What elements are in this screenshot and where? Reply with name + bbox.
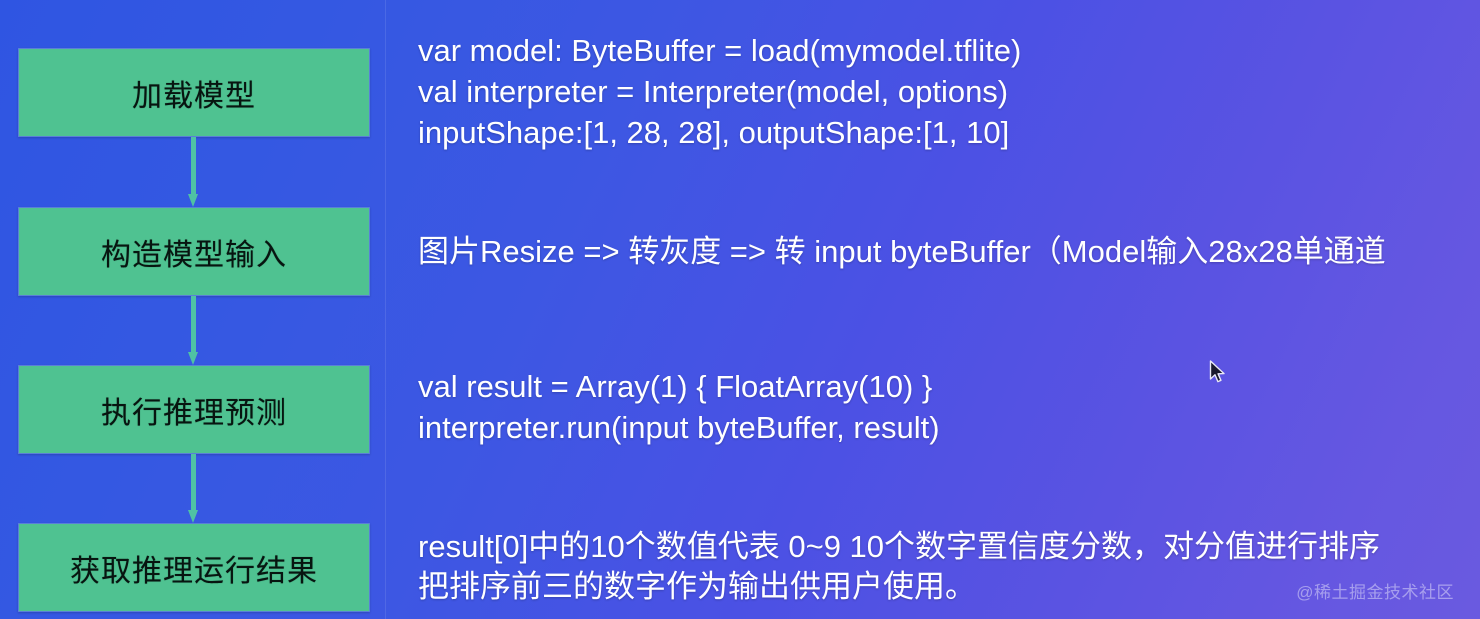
code-line: val interpreter = Interpreter(model, opt… [418,71,1021,112]
code-line: val result = Array(1) { FloatArray(10) } [418,366,940,407]
annotation-run-inference-code: val result = Array(1) { FloatArray(10) }… [418,366,940,448]
column-divider [385,0,386,619]
arrow-head [188,352,198,365]
flow-arrow-down-icon [188,137,199,208]
description-line: 图片Resize => 转灰度 => 转 input byteBuffer（Mo… [418,232,1386,272]
code-line: var model: ByteBuffer = load(mymodel.tfl… [418,30,1021,71]
mouse-cursor-icon [1209,360,1227,384]
flow-step-label: 获取推理运行结果 [70,546,318,590]
flow-step-label: 执行推理预测 [101,388,287,432]
flow-step-run-inference[interactable]: 执行推理预测 [18,365,370,454]
arrow-stem [191,296,196,353]
annotation-load-model-code: var model: ByteBuffer = load(mymodel.tfl… [418,30,1021,153]
flow-step-load-model[interactable]: 加载模型 [18,48,370,137]
description-line: result[0]中的10个数值代表 0~9 10个数字置信度分数，对分值进行排… [418,527,1380,567]
flow-step-label: 构造模型输入 [101,230,287,274]
annotation-build-input-description: 图片Resize => 转灰度 => 转 input byteBuffer（Mo… [418,232,1386,272]
arrow-stem [191,137,196,195]
description-line: 把排序前三的数字作为输出供用户使用。 [418,567,1380,607]
slide-canvas: 加载模型 构造模型输入 执行推理预测 获取推理运行结果 var model: B… [0,0,1480,619]
annotation-read-result-description: result[0]中的10个数值代表 0~9 10个数字置信度分数，对分值进行排… [418,527,1380,607]
flow-step-get-result[interactable]: 获取推理运行结果 [18,523,370,612]
flow-arrow-down-icon [188,454,199,524]
site-watermark: @稀土掘金技术社区 [1296,578,1454,603]
code-line: inputShape:[1, 28, 28], outputShape:[1, … [418,112,1021,153]
arrow-stem [191,454,196,511]
flow-step-label: 加载模型 [132,71,256,115]
flow-arrow-down-icon [188,296,199,366]
arrow-head [188,510,198,523]
code-line: interpreter.run(input byteBuffer, result… [418,407,940,448]
arrow-head [188,194,198,207]
flow-step-build-input[interactable]: 构造模型输入 [18,207,370,296]
